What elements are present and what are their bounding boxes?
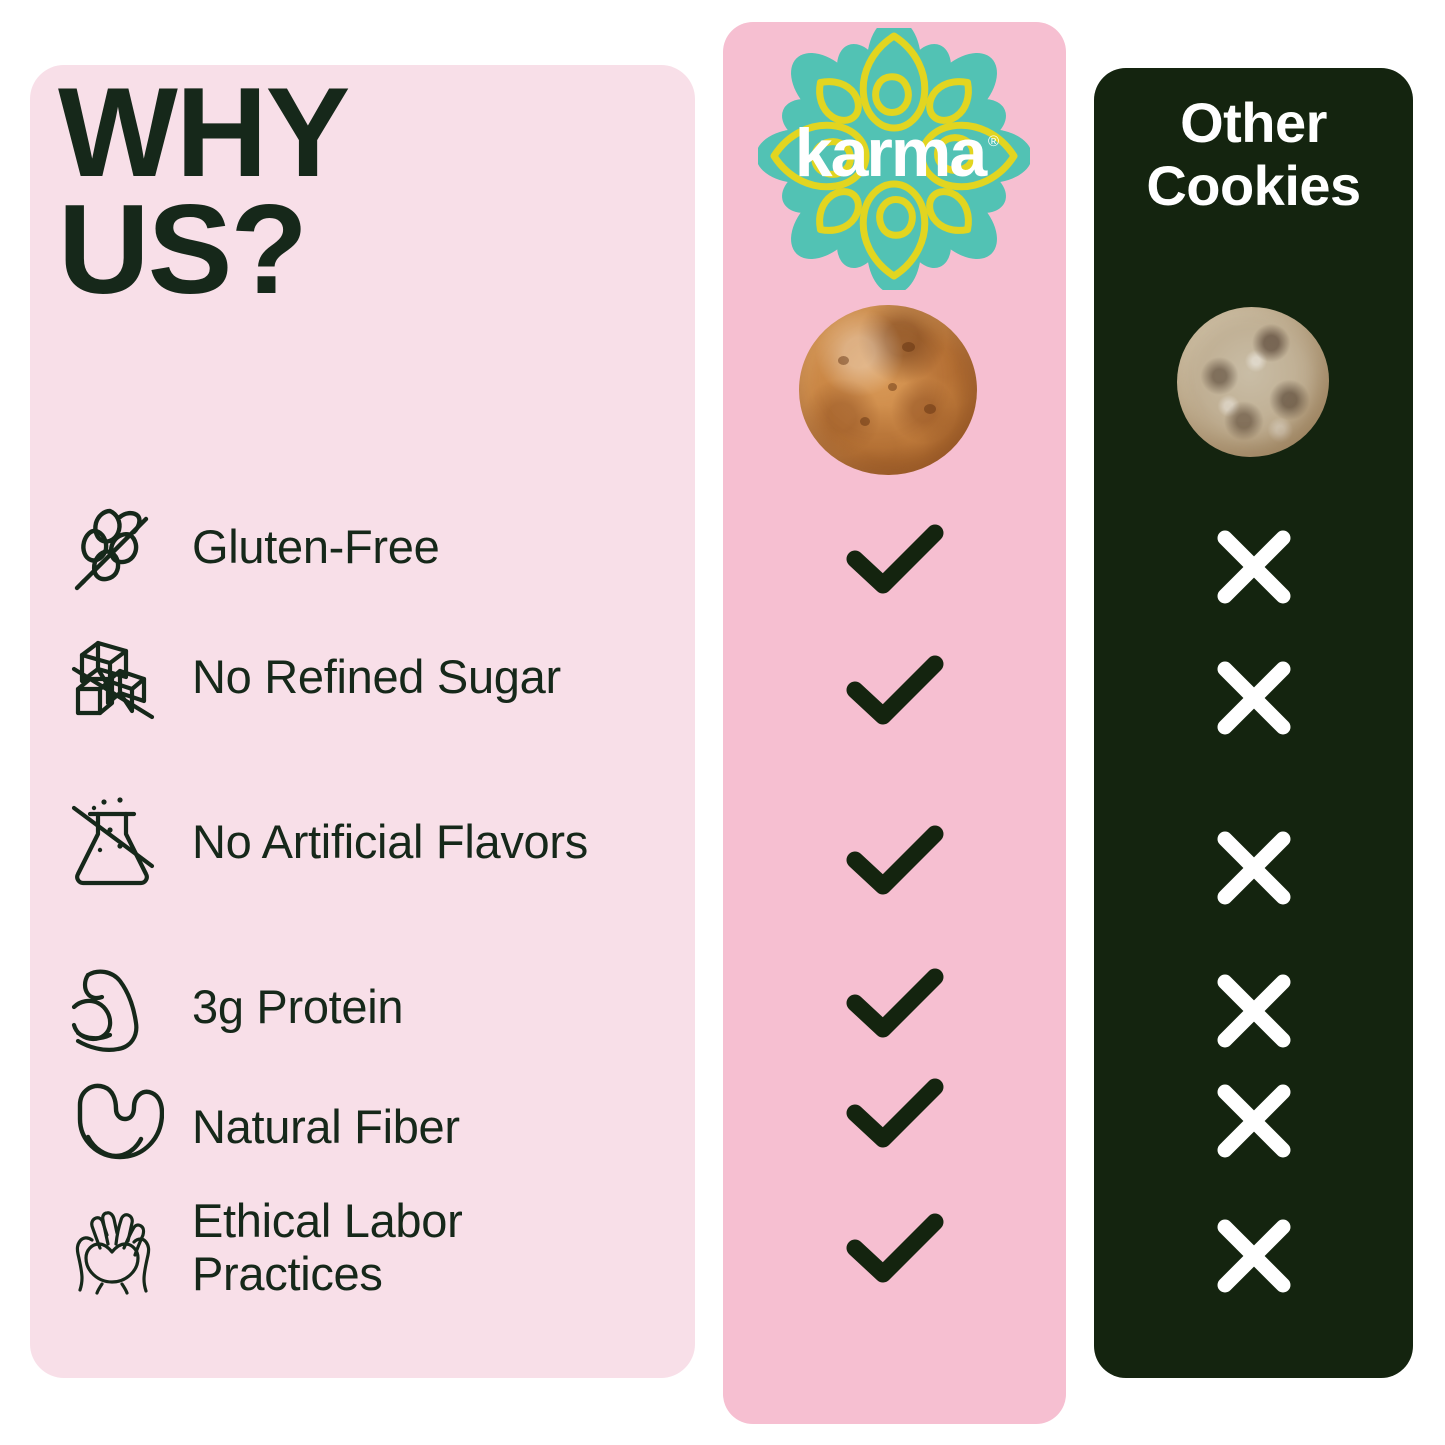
other-cross-mark [1094, 825, 1413, 911]
feature-label: Gluten-Free [192, 521, 439, 574]
other-cross-mark [1094, 524, 1413, 610]
karma-cookie-photo [799, 305, 977, 475]
bean-icon [60, 1075, 164, 1179]
feature-row: 3g Protein [60, 955, 660, 1059]
feature-label: Ethical Labor Practices [192, 1195, 660, 1300]
other-cross-mark [1094, 968, 1413, 1054]
feature-label: No Refined Sugar [192, 651, 561, 704]
other-cookies-title-line2: Cookies [1094, 155, 1413, 218]
hands-heart-icon [60, 1196, 164, 1300]
other-cookies-title-line1: Other [1094, 92, 1413, 155]
other-cross-mark [1094, 1213, 1413, 1299]
feature-label: Natural Fiber [192, 1101, 460, 1154]
other-cookies-title: Other Cookies [1094, 92, 1413, 217]
svg-text:karma: karma [795, 115, 989, 191]
page-title: WHY US? [58, 74, 618, 308]
karma-check-mark [723, 1208, 1066, 1288]
karma-mandala-logo: karma ® [758, 28, 1030, 290]
karma-check-mark [723, 1073, 1066, 1153]
karma-check-mark [723, 650, 1066, 730]
other-cross-mark [1094, 655, 1413, 741]
feature-label: 3g Protein [192, 981, 403, 1034]
karma-check-mark [723, 963, 1066, 1043]
feature-label: No Artificial Flavors [192, 816, 588, 869]
svg-text:®: ® [988, 133, 999, 150]
sugar-cubes-no-icon [60, 625, 164, 729]
feature-row: No Artificial Flavors [60, 790, 660, 894]
other-cross-mark [1094, 1078, 1413, 1164]
karma-check-mark [723, 519, 1066, 599]
comparison-infographic: WHY US? Gluten-Free [0, 0, 1445, 1445]
feature-row: No Refined Sugar [60, 625, 660, 729]
bicep-muscle-icon [60, 955, 164, 1059]
feature-row: Ethical Labor Practices [60, 1195, 660, 1300]
karma-check-mark [723, 820, 1066, 900]
flask-no-icon [60, 790, 164, 894]
feature-row: Natural Fiber [60, 1075, 660, 1179]
feature-row: Gluten-Free [60, 495, 660, 599]
wheat-no-icon [60, 495, 164, 599]
